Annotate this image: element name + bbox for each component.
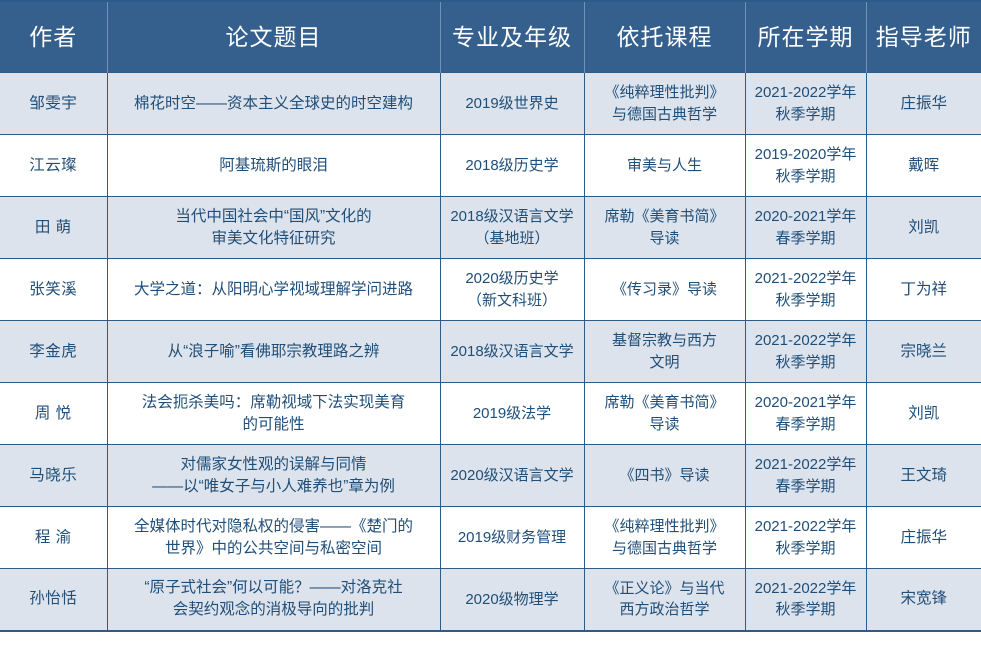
table-row[interactable]: 周 悦法会扼杀美吗：席勒视域下法实现美育的可能性2019级法学席勒《美育书简》导…	[0, 383, 981, 445]
table-row[interactable]: 程 渝全媒体时代对隐私权的侵害——《楚门的世界》中的公共空间与私密空间2019级…	[0, 507, 981, 569]
cell-course-line: 导读	[590, 414, 740, 435]
cell-course: 《纯粹理性批判》与德国古典哲学	[584, 73, 745, 135]
cell-term-line: 春季学期	[751, 414, 861, 435]
cell-teacher: 庄振华	[866, 507, 981, 569]
cell-term-line: 2021-2022学年	[751, 82, 861, 103]
cell-course-line: 席勒《美育书简》	[590, 206, 740, 227]
column-header-course[interactable]: 依托课程	[584, 1, 745, 73]
cell-title-line: 大学之道：从阳明心学视域理解学问进路	[113, 279, 435, 301]
cell-course: 《传习录》导读	[584, 259, 745, 321]
cell-teacher: 刘凯	[866, 197, 981, 259]
cell-course-line: 《传习录》导读	[590, 279, 740, 300]
cell-term: 2021-2022学年秋季学期	[745, 569, 866, 631]
cell-author: 孙怡恬	[0, 569, 107, 631]
cell-title-line: 会契约观念的消极导向的批判	[113, 599, 435, 621]
cell-title-line: 从“浪子喻”看佛耶宗教理路之辨	[113, 341, 435, 363]
cell-term: 2021-2022学年秋季学期	[745, 73, 866, 135]
cell-term: 2021-2022学年春季学期	[745, 445, 866, 507]
cell-title-line: 当代中国社会中“国风”文化的	[113, 206, 435, 228]
column-header-author[interactable]: 作者	[0, 1, 107, 73]
cell-course-line: 西方政治哲学	[590, 599, 740, 620]
cell-term-line: 秋季学期	[751, 352, 861, 373]
cell-title-line: 世界》中的公共空间与私密空间	[113, 538, 435, 560]
cell-major-line: 2018级汉语言文学	[446, 206, 579, 227]
cell-major-line: 2019级财务管理	[446, 527, 579, 548]
cell-course-line: 基督宗教与西方	[590, 330, 740, 351]
table-row[interactable]: 孙怡恬“原子式社会”何以可能？——对洛克社会契约观念的消极导向的批判2020级物…	[0, 569, 981, 631]
cell-major: 2018级汉语言文学	[440, 321, 584, 383]
cell-term-line: 秋季学期	[751, 599, 861, 620]
column-header-major[interactable]: 专业及年级	[440, 1, 584, 73]
cell-title-line: “原子式社会”何以可能？——对洛克社	[113, 577, 435, 599]
cell-title: 当代中国社会中“国风”文化的审美文化特征研究	[107, 197, 440, 259]
cell-course-line: 《四书》导读	[590, 465, 740, 486]
cell-course-line: 《正义论》与当代	[590, 578, 740, 599]
cell-author: 邹雯宇	[0, 73, 107, 135]
table-row[interactable]: 李金虎从“浪子喻”看佛耶宗教理路之辨2018级汉语言文学基督宗教与西方文明202…	[0, 321, 981, 383]
cell-term: 2020-2021学年春季学期	[745, 197, 866, 259]
cell-term-line: 2021-2022学年	[751, 578, 861, 599]
cell-major-line: 2020级物理学	[446, 589, 579, 610]
cell-title: 从“浪子喻”看佛耶宗教理路之辨	[107, 321, 440, 383]
cell-course: 席勒《美育书简》导读	[584, 383, 745, 445]
cell-major-line: 2018级汉语言文学	[446, 341, 579, 362]
cell-author: 张笑溪	[0, 259, 107, 321]
table-row[interactable]: 田 萌当代中国社会中“国风”文化的审美文化特征研究2018级汉语言文学（基地班）…	[0, 197, 981, 259]
cell-title-line: 全媒体时代对隐私权的侵害——《楚门的	[113, 516, 435, 538]
cell-term: 2021-2022学年秋季学期	[745, 507, 866, 569]
cell-course-line: 《纯粹理性批判》	[590, 82, 740, 103]
paper-table-container: 作者 论文题目 专业及年级 依托课程 所在学期 指导老师 邹雯宇棉花时空——资本…	[0, 0, 981, 632]
cell-title: 对儒家女性观的误解与同情——以“唯女子与小人难养也”章为例	[107, 445, 440, 507]
cell-term: 2021-2022学年秋季学期	[745, 321, 866, 383]
table-header-row: 作者 论文题目 专业及年级 依托课程 所在学期 指导老师	[0, 1, 981, 73]
cell-major: 2018级历史学	[440, 135, 584, 197]
cell-course-line: 与德国古典哲学	[590, 104, 740, 125]
cell-term-line: 春季学期	[751, 228, 861, 249]
cell-term-line: 秋季学期	[751, 104, 861, 125]
cell-teacher: 宋宽锋	[866, 569, 981, 631]
cell-term-line: 2021-2022学年	[751, 268, 861, 289]
cell-major: 2019级法学	[440, 383, 584, 445]
table-row[interactable]: 张笑溪大学之道：从阳明心学视域理解学问进路2020级历史学（新文科班）《传习录》…	[0, 259, 981, 321]
cell-course-line: 席勒《美育书简》	[590, 392, 740, 413]
cell-major: 2020级历史学（新文科班）	[440, 259, 584, 321]
cell-teacher: 戴晖	[866, 135, 981, 197]
cell-author: 李金虎	[0, 321, 107, 383]
cell-term-line: 秋季学期	[751, 538, 861, 559]
cell-author: 周 悦	[0, 383, 107, 445]
cell-term-line: 2021-2022学年	[751, 516, 861, 537]
cell-term-line: 2020-2021学年	[751, 392, 861, 413]
cell-major: 2018级汉语言文学（基地班）	[440, 197, 584, 259]
cell-course-line: 导读	[590, 228, 740, 249]
cell-major-line: 2020级历史学	[446, 268, 579, 289]
cell-teacher: 刘凯	[866, 383, 981, 445]
cell-course: 基督宗教与西方文明	[584, 321, 745, 383]
table-row[interactable]: 江云璨阿基琉斯的眼泪2018级历史学审美与人生2019-2020学年秋季学期戴晖	[0, 135, 981, 197]
cell-term-line: 2020-2021学年	[751, 206, 861, 227]
table-bottom-spacer	[0, 632, 981, 648]
cell-major: 2020级物理学	[440, 569, 584, 631]
cell-major: 2019级世界史	[440, 73, 584, 135]
cell-course: 审美与人生	[584, 135, 745, 197]
cell-title: 大学之道：从阳明心学视域理解学问进路	[107, 259, 440, 321]
cell-major-line: 2019级法学	[446, 403, 579, 424]
cell-course-line: 审美与人生	[590, 155, 740, 176]
cell-term: 2021-2022学年秋季学期	[745, 259, 866, 321]
cell-course-line: 与德国古典哲学	[590, 538, 740, 559]
cell-title-line: 审美文化特征研究	[113, 228, 435, 250]
cell-title-line: 的可能性	[113, 414, 435, 436]
cell-course: 《纯粹理性批判》与德国古典哲学	[584, 507, 745, 569]
cell-title-line: 棉花时空——资本主义全球史的时空建构	[113, 93, 435, 115]
cell-major-line: （新文科班）	[446, 290, 579, 311]
cell-term: 2020-2021学年春季学期	[745, 383, 866, 445]
cell-title: 全媒体时代对隐私权的侵害——《楚门的世界》中的公共空间与私密空间	[107, 507, 440, 569]
cell-major-line: 2018级历史学	[446, 155, 579, 176]
cell-title: 法会扼杀美吗：席勒视域下法实现美育的可能性	[107, 383, 440, 445]
cell-title-line: ——以“唯女子与小人难养也”章为例	[113, 476, 435, 498]
column-header-term[interactable]: 所在学期	[745, 1, 866, 73]
cell-course-line: 文明	[590, 352, 740, 373]
cell-term-line: 秋季学期	[751, 166, 861, 187]
cell-term-line: 2021-2022学年	[751, 454, 861, 475]
cell-teacher: 丁为祥	[866, 259, 981, 321]
cell-term-line: 秋季学期	[751, 290, 861, 311]
cell-title: “原子式社会”何以可能？——对洛克社会契约观念的消极导向的批判	[107, 569, 440, 631]
paper-list-table: 作者 论文题目 专业及年级 依托课程 所在学期 指导老师 邹雯宇棉花时空——资本…	[0, 0, 981, 632]
cell-author: 田 萌	[0, 197, 107, 259]
column-header-title[interactable]: 论文题目	[107, 1, 440, 73]
cell-major-line: （基地班）	[446, 228, 579, 249]
cell-course: 《正义论》与当代西方政治哲学	[584, 569, 745, 631]
cell-title-line: 对儒家女性观的误解与同情	[113, 454, 435, 476]
cell-teacher: 庄振华	[866, 73, 981, 135]
cell-title: 棉花时空——资本主义全球史的时空建构	[107, 73, 440, 135]
table-body: 邹雯宇棉花时空——资本主义全球史的时空建构2019级世界史《纯粹理性批判》与德国…	[0, 73, 981, 631]
cell-term-line: 2021-2022学年	[751, 330, 861, 351]
cell-course-line: 《纯粹理性批判》	[590, 516, 740, 537]
cell-teacher: 王文琦	[866, 445, 981, 507]
cell-major-line: 2020级汉语言文学	[446, 465, 579, 486]
cell-author: 程 渝	[0, 507, 107, 569]
cell-term-line: 春季学期	[751, 476, 861, 497]
cell-major: 2020级汉语言文学	[440, 445, 584, 507]
cell-term-line: 2019-2020学年	[751, 144, 861, 165]
cell-course: 《四书》导读	[584, 445, 745, 507]
cell-title-line: 法会扼杀美吗：席勒视域下法实现美育	[113, 392, 435, 414]
cell-term: 2019-2020学年秋季学期	[745, 135, 866, 197]
cell-major: 2019级财务管理	[440, 507, 584, 569]
cell-course: 席勒《美育书简》导读	[584, 197, 745, 259]
cell-teacher: 宗晓兰	[866, 321, 981, 383]
table-header: 作者 论文题目 专业及年级 依托课程 所在学期 指导老师	[0, 1, 981, 73]
column-header-teacher[interactable]: 指导老师	[866, 1, 981, 73]
cell-major-line: 2019级世界史	[446, 93, 579, 114]
cell-author: 江云璨	[0, 135, 107, 197]
table-row[interactable]: 马晓乐对儒家女性观的误解与同情——以“唯女子与小人难养也”章为例2020级汉语言…	[0, 445, 981, 507]
cell-title: 阿基琉斯的眼泪	[107, 135, 440, 197]
table-row[interactable]: 邹雯宇棉花时空——资本主义全球史的时空建构2019级世界史《纯粹理性批判》与德国…	[0, 73, 981, 135]
cell-author: 马晓乐	[0, 445, 107, 507]
cell-title-line: 阿基琉斯的眼泪	[113, 155, 435, 177]
